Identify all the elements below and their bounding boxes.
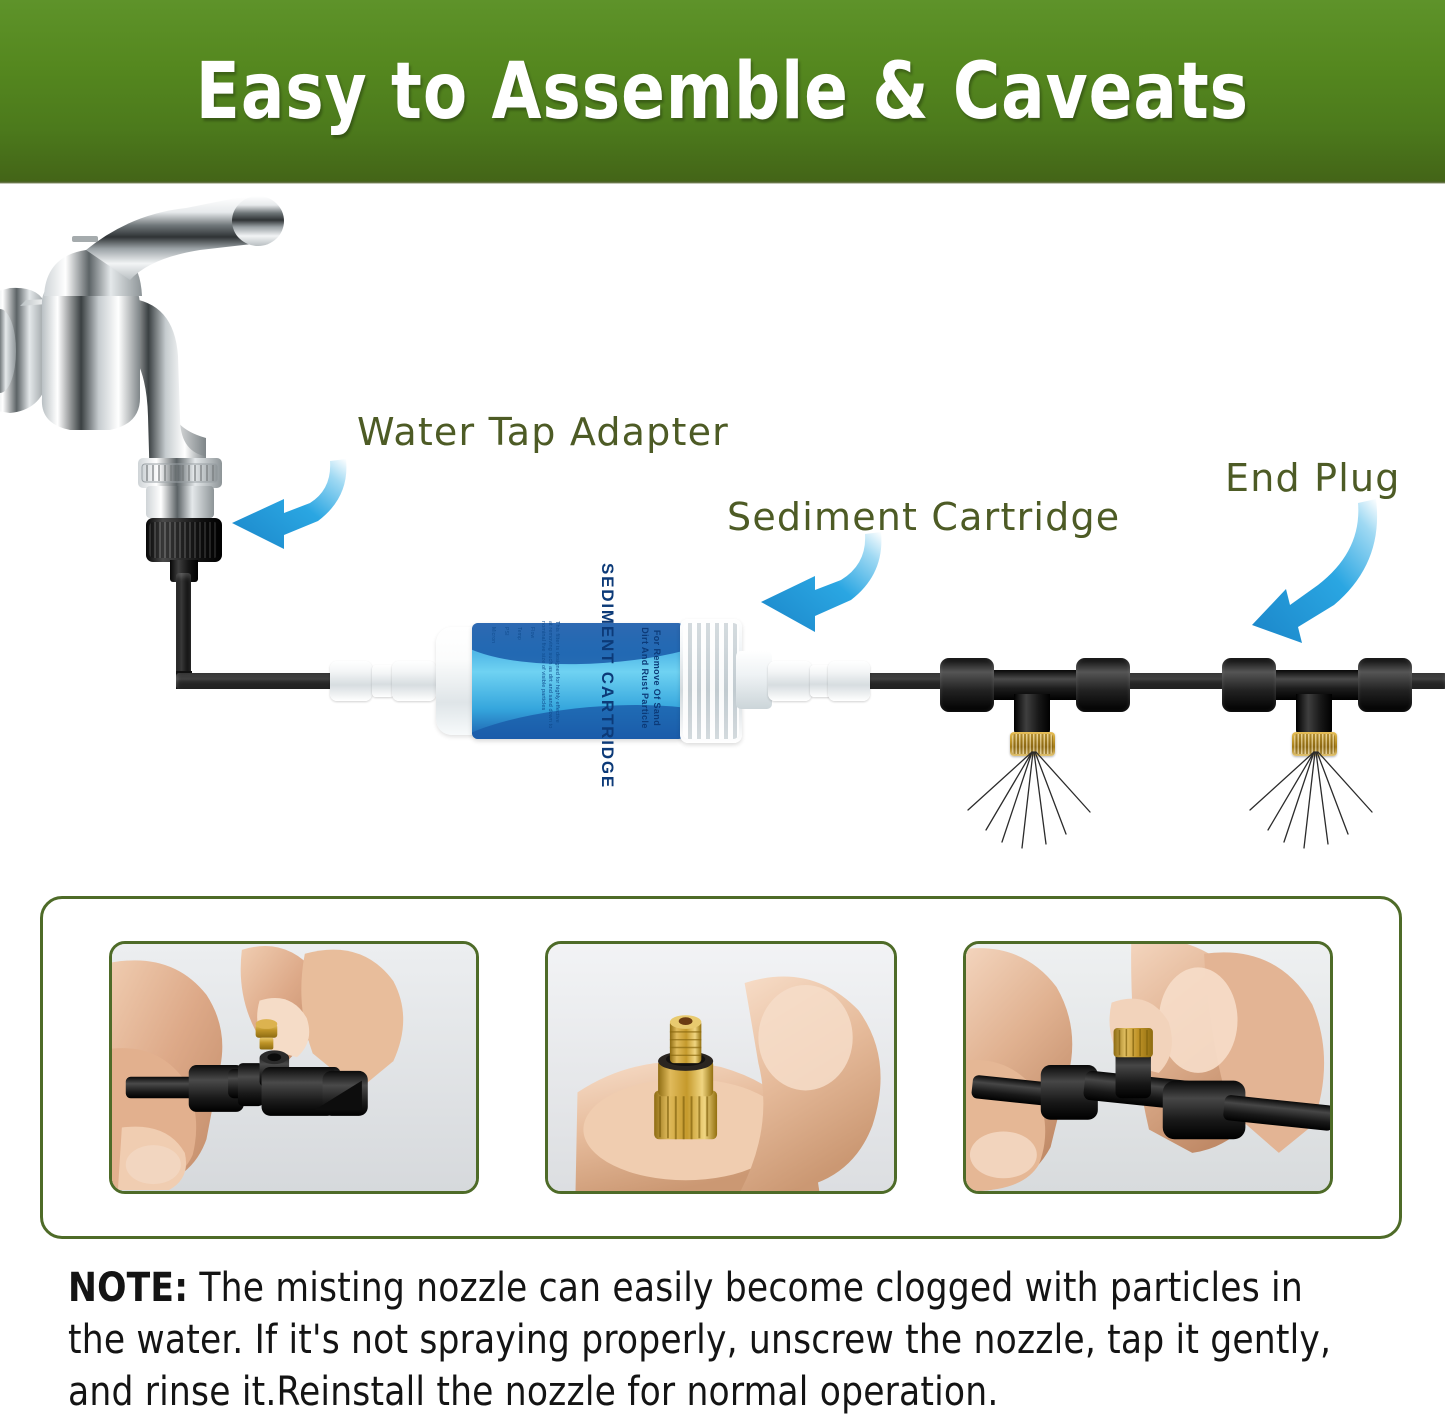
infographic-page: Easy to Assemble & Caveats (0, 0, 1445, 1406)
photo-screw-nozzle-image (966, 944, 1330, 1191)
photo-nozzle-closeup-image (548, 944, 894, 1191)
cartridge-cap-knurl (683, 623, 739, 739)
adapter-knurl (149, 522, 219, 558)
hose-tubing-segment-1 (176, 673, 336, 689)
blue-arrow-to-end-plug-icon (1250, 493, 1385, 643)
cartridge-outlet-stem (736, 651, 772, 709)
blue-arrow-to-cartridge-icon (755, 528, 885, 643)
photo-insert-nozzle (109, 941, 479, 1194)
photo-insert-nozzle-image (112, 944, 476, 1191)
header-banner: Easy to Assemble & Caveats (0, 0, 1445, 183)
mist-spray-icon (940, 750, 1130, 850)
tee-branch (1296, 694, 1332, 736)
note-text: NOTE: The misting nozzle can easily beco… (68, 1262, 1341, 1418)
mist-spray-icon (1222, 750, 1412, 850)
assembly-diagram: Flow Temp PSI Micron This filter is desi… (0, 183, 1445, 883)
instruction-photo-strip (40, 896, 1402, 1239)
tee-nut-left (1222, 658, 1276, 712)
blue-arrow-to-tap-adapter-icon (222, 453, 352, 563)
misting-nozzle-tee-1 (940, 638, 1130, 838)
tee-nut-left (940, 658, 994, 712)
tee-nut-right (1076, 658, 1130, 712)
misting-nozzle-tee-2 (1222, 638, 1412, 838)
note-body: The misting nozzle can easily become clo… (68, 1265, 1331, 1415)
white-quick-connector-left-a (330, 661, 372, 701)
tee-branch (1014, 694, 1050, 736)
label-water-tap-adapter: Water Tap Adapter (357, 410, 729, 454)
sediment-cartridge-part: Flow Temp PSI Micron This filter is desi… (436, 617, 776, 745)
tee-nut-right (1358, 658, 1412, 712)
white-quick-connector-right-b (828, 661, 870, 701)
page-title: Easy to Assemble & Caveats (196, 53, 1249, 131)
black-tap-adapter (146, 518, 222, 580)
photo-screw-nozzle (963, 941, 1333, 1194)
white-quick-connector-right-a (768, 661, 812, 701)
photo-nozzle-closeup (545, 941, 897, 1194)
note-prefix: NOTE: (68, 1265, 188, 1311)
white-quick-connector-left-waist (372, 665, 394, 697)
